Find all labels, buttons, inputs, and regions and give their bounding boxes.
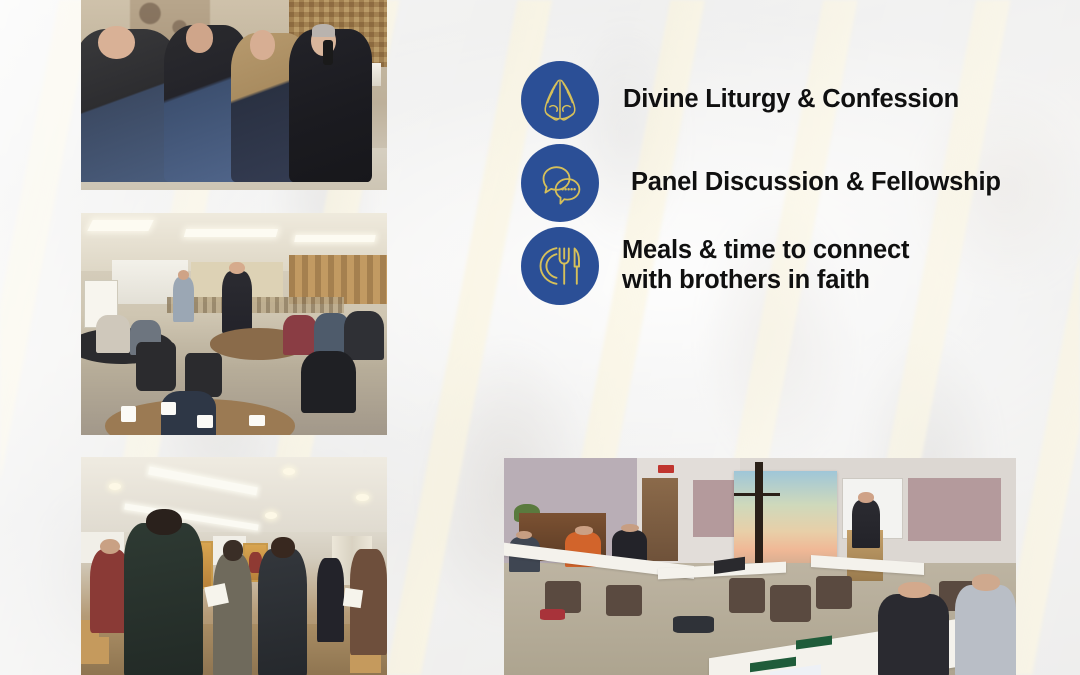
chapel-prayer-photo	[81, 457, 387, 675]
feature-item-liturgy: Divine Liturgy & Confession	[521, 58, 1021, 141]
feature-item-panel: Panel Discussion & Fellowship	[521, 141, 1021, 224]
meeting-hall-photo	[81, 213, 387, 435]
feature-label-meals: Meals & time to connect with brothers in…	[622, 236, 909, 296]
feature-list: Divine Liturgy & Confession	[521, 58, 1021, 307]
feature-label-panel: Panel Discussion & Fellowship	[631, 168, 1001, 198]
speech-bubbles-icon	[521, 144, 599, 222]
promotional-poster: Divine Liturgy & Confession	[0, 0, 1080, 675]
classroom-talk-photo	[504, 458, 1016, 675]
feature-item-meals: Meals & time to connect with brothers in…	[521, 224, 1021, 307]
plate-fork-knife-icon	[521, 227, 599, 305]
praying-hands-icon	[521, 61, 599, 139]
panel-discussion-photo	[81, 0, 387, 190]
feature-label-liturgy: Divine Liturgy & Confession	[623, 85, 959, 115]
